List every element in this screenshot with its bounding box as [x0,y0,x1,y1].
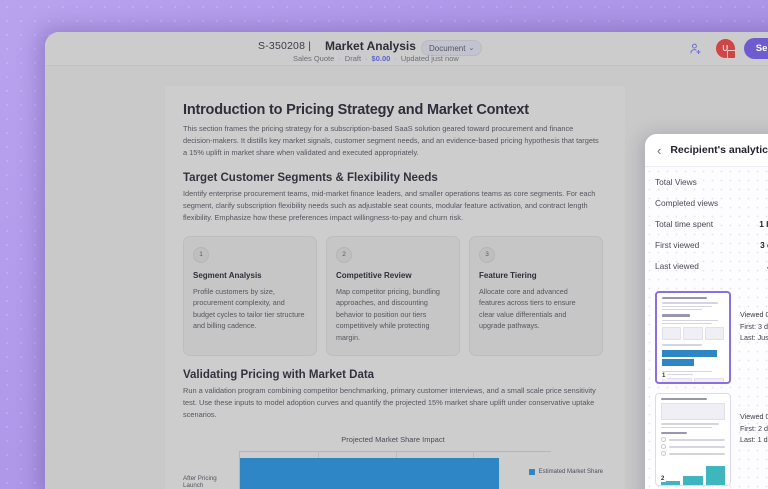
stat-value: 1 hr 20 min [759,219,768,229]
stat-last-viewed: Last viewed Just now [645,261,768,282]
section1-body: This section frames the pricing strategy… [183,123,603,159]
thumbnail-preview [657,293,729,384]
chevron-left-icon[interactable]: ‹ [657,144,661,157]
stat-total-views: Total Views 3 times [645,177,768,198]
chart-category-label: After Pricing Launch [183,451,239,489]
card-title: Segment Analysis [193,271,307,280]
header-actions: U Send [685,37,768,59]
app-window: S-350208 | Market Analysis Document ⌄ Sa… [45,32,768,489]
chart-plot [239,451,551,489]
card-text: Map competitor pricing, bundling approac… [336,286,450,344]
page-viewed-count: Viewed 0 times [740,309,768,321]
stat-label: Total time spent [655,219,713,229]
card-text: Allocate core and advanced features acro… [479,286,593,332]
card-number: 3 [479,247,495,263]
meta-sep-3: · [394,54,397,63]
document-title: Market Analysis [325,39,416,53]
legend-swatch [529,469,535,475]
stat-label: Completed views [655,198,718,208]
card-competitive-review: 2 Competitive Review Map competitor pric… [326,236,460,357]
chart-title: Projected Market Share Impact [183,435,603,444]
meta-status: Draft [345,54,361,63]
avatar[interactable]: U [715,38,736,59]
panel-title: Recipient's analytics [670,144,768,156]
page-thumbnail-1[interactable]: 1 [655,291,731,384]
chevron-down-icon: ⌄ [468,45,474,52]
document-meta: Sales Quote · Draft · $0.00 · Updated ju… [293,54,459,63]
page-number: 2 [659,476,666,482]
stat-first-viewed: First viewed 3 days ago [645,240,768,261]
card-title: Feature Tiering [479,271,593,280]
panel-header: ‹ Recipient's analytics [645,134,768,167]
chart-legend: Estimated Market Share [529,469,603,475]
stat-label: Last viewed [655,261,699,271]
recipient-analytics-panel: ‹ Recipient's analytics Total Views 3 ti… [645,134,768,489]
feature-cards: 1 Segment Analysis Profile customers by … [183,236,603,357]
meta-kind: Sales Quote [293,54,334,63]
card-segment-analysis: 1 Segment Analysis Profile customers by … [183,236,317,357]
panel-body[interactable]: Total Views 3 times Completed views 3 ti… [645,167,768,489]
page-last-viewed: Last: Just now [740,332,768,344]
page-title: Introduction to Pricing Strategy and Mar… [183,102,603,118]
card-title: Competitive Review [336,271,450,280]
document-type-label: Document [429,44,465,53]
window-header: S-350208 | Market Analysis Document ⌄ Sa… [45,32,768,66]
card-text: Profile customers by size, procurement c… [193,286,307,332]
meta-sep-1: · [338,54,341,63]
legend-label: Estimated Market Share [539,469,603,475]
page-first-viewed: First: 3 days ago [740,321,768,333]
send-button[interactable]: Send [744,38,768,59]
stat-label: First viewed [655,240,699,250]
card-number: 1 [193,247,209,263]
stat-value: 3 days ago [760,240,768,250]
page-thumbnail-list: 1 Viewed 0 times First: 3 days ago Last:… [645,291,768,489]
page-thumbnail-2[interactable]: 2 [655,393,731,486]
window-body: Introduction to Pricing Strategy and Mar… [45,66,768,489]
page-viewed-count: Viewed 0 times [740,411,768,423]
market-share-chart: Projected Market Share Impact After Pric… [183,435,603,489]
section3-heading: Validating Pricing with Market Data [183,369,603,381]
card-number: 2 [336,247,352,263]
chart-bar [240,458,499,489]
card-feature-tiering: 3 Feature Tiering Allocate core and adva… [469,236,603,357]
document-page: Introduction to Pricing Strategy and Mar… [165,86,625,489]
section2-heading: Target Customer Segments & Flexibility N… [183,172,603,184]
stat-completed-views: Completed views 3 times [645,198,768,219]
list-item: 2 Viewed 0 times First: 2 days ago Last:… [645,393,768,486]
person-add-icon[interactable] [685,37,707,59]
stat-label: Total Views [655,177,697,187]
page-number: 1 [660,373,667,379]
section2-body: Identify enterprise procurement teams, m… [183,188,603,224]
stat-total-time-spent: Total time spent 1 hr 20 min [645,219,768,240]
section3-body: Run a validation program combining compe… [183,385,603,421]
page-last-viewed: Last: 1 day ago [740,434,768,446]
page-stats: Viewed 0 times First: 2 days ago Last: 1… [740,393,768,486]
page-stats: Viewed 0 times First: 3 days ago Last: J… [740,291,768,384]
meta-updated: Updated just now [401,54,459,63]
chart-area: After Pricing Launch Estimated Market Sh… [183,451,603,489]
meta-sep-2: · [365,54,368,63]
thumbnail-preview [656,394,730,486]
document-id: S-350208 | [258,40,311,52]
meta-amount: $0.00 [372,54,391,63]
list-item: 1 Viewed 0 times First: 3 days ago Last:… [645,291,768,384]
page-first-viewed: First: 2 days ago [740,423,768,435]
